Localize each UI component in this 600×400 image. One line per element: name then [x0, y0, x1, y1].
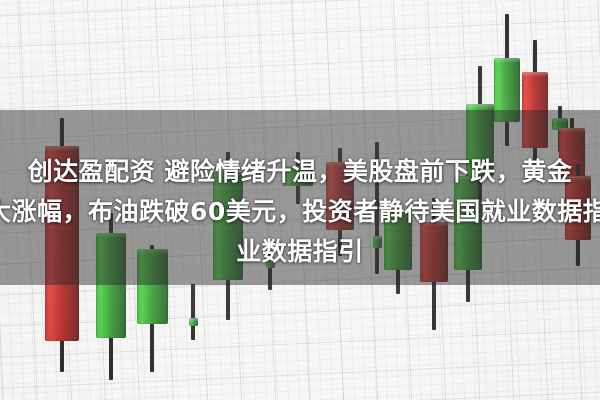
headline-line-1: 创达盈配资 避险情绪升温，美股盘前下跌，黄金: [0, 152, 600, 192]
headline-line-2: 大涨幅，布油跌破60美元，投资者静待美国就业数据指: [0, 192, 600, 232]
headline-text: 创达盈配资 避险情绪升温，美股盘前下跌，黄金 大涨幅，布油跌破60美元，投资者静…: [0, 152, 600, 272]
headline-line-3: 业数据指引: [0, 232, 600, 272]
candlestick-headline-banner: 创达盈配资 避险情绪升温，美股盘前下跌，黄金 大涨幅，布油跌破60美元，投资者静…: [0, 0, 600, 400]
